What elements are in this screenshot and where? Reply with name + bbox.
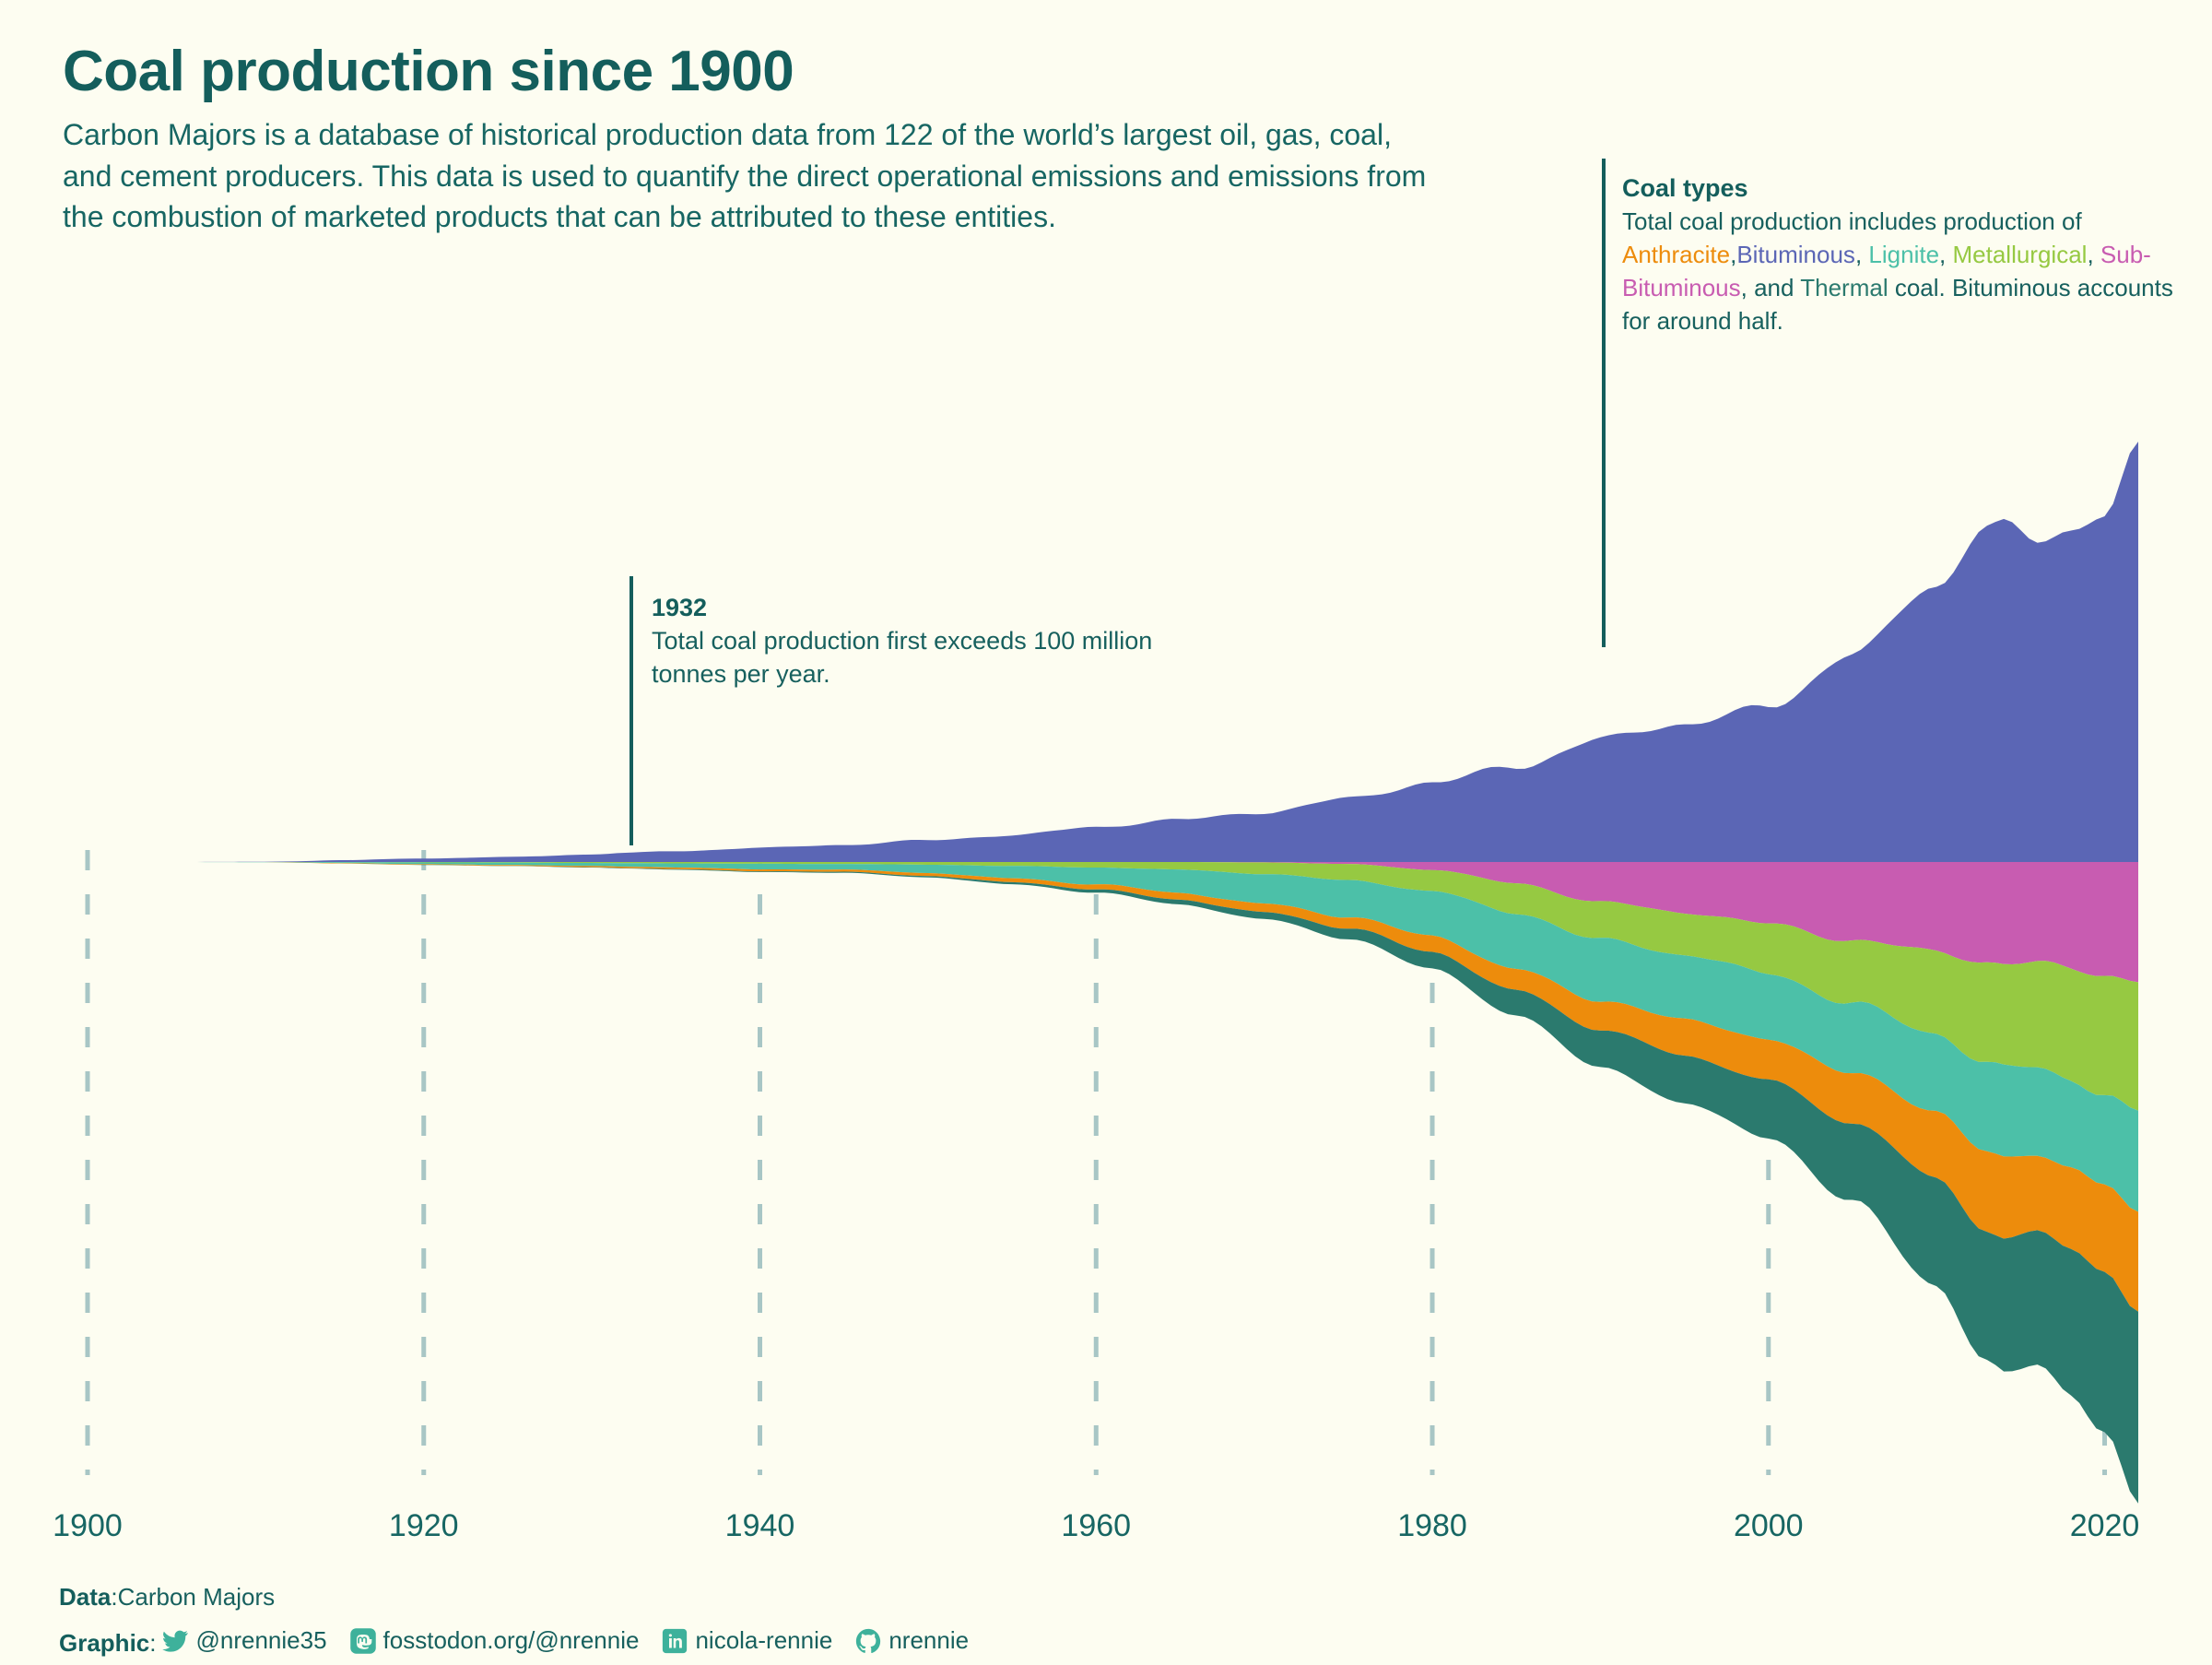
credit-handle: fosstodon.org/@nrennie (383, 1623, 640, 1659)
area-band-anthracite (88, 862, 2138, 1312)
footer-credit-linkedin[interactable]: nicola-rennie (661, 1623, 832, 1659)
x-tick-label-1940: 1940 (725, 1508, 795, 1544)
footer-data-label: Data (59, 1579, 111, 1615)
footer-credits: @nrennie35fosstodon.org/@nrennienicola-r… (156, 1623, 969, 1665)
sep: , (2087, 241, 2100, 268)
footer-credit-twitter[interactable]: @nrennie35 (161, 1623, 326, 1659)
annotation-rule (1602, 159, 1606, 647)
footer: Data: Carbon Majors Graphic: @nrennie35f… (59, 1579, 969, 1665)
coal-types-line3: and (1754, 274, 1800, 301)
coal-types-line2: production of (1943, 207, 2081, 235)
legend-word-lignite: Lignite (1868, 241, 1939, 268)
footer-credit-mastodon[interactable]: fosstodon.org/@nrennie (349, 1623, 640, 1659)
footer-data-line: Data: Carbon Majors (59, 1579, 969, 1615)
area-band-sub-bituminous (88, 862, 2138, 982)
sep: , (1939, 241, 1952, 268)
infographic-root: Coal production since 1900 Carbon Majors… (0, 0, 2212, 1659)
annotation-title: Coal types (1622, 173, 2175, 204)
x-tick-label-2020: 2020 (2070, 1508, 2140, 1544)
footer-data-sep: : (111, 1579, 117, 1615)
x-tick-label-1980: 1980 (1397, 1508, 1467, 1544)
footer-data-value: Carbon Majors (118, 1579, 276, 1615)
area-band-metallurgical (88, 862, 2138, 1111)
footer-graphic-line: Graphic: @nrennie35fosstodon.org/@nrenni… (59, 1623, 969, 1665)
annotation-body: Coal types Total coal production include… (1622, 173, 2175, 337)
x-tick-label-1920: 1920 (389, 1508, 459, 1544)
legend-word-thermal: Thermal (1800, 274, 1888, 301)
linkedin-icon (661, 1627, 688, 1655)
credit-handle: nicola-rennie (695, 1623, 832, 1659)
sep: , (1855, 241, 1862, 268)
area-band-lignite (88, 862, 2138, 1212)
page-title: Coal production since 1900 (63, 42, 1482, 101)
x-tick-label-2000: 2000 (1734, 1508, 1804, 1544)
legend-word-anthracite: Anthracite (1622, 241, 1730, 268)
mastodon-icon (349, 1627, 377, 1655)
credit-handle: nrennie (888, 1623, 969, 1659)
gridlines (88, 850, 2105, 1475)
legend-word-metallurgical: Metallurgical (1952, 241, 2087, 268)
header: Coal production since 1900 Carbon Majors… (63, 42, 1482, 237)
legend-word-bituminous: Bituminous (1736, 241, 1855, 268)
annotation-body: 1932 Total coal production first exceeds… (652, 593, 1205, 691)
coal-types-line4: coal. Bituminous accounts (1888, 274, 2173, 301)
credit-handle: @nrennie35 (195, 1623, 326, 1659)
annotation-text: Total coal production includes productio… (1622, 206, 2175, 338)
annotation-rule (629, 576, 633, 845)
coal-types-line5: for around half. (1622, 307, 1783, 335)
annotation-title: 1932 (652, 593, 1205, 623)
area-band-thermal (88, 862, 2138, 1504)
coal-types-line1: Total coal production includes (1622, 207, 1936, 235)
sep: , (1741, 274, 1747, 301)
twitter-icon (161, 1627, 189, 1655)
annotation-text: Total coal production first exceeds 100 … (652, 625, 1205, 691)
github-icon (854, 1627, 882, 1655)
footer-graphic-sep: : (149, 1625, 156, 1661)
x-tick-label-1900: 1900 (53, 1508, 123, 1544)
footer-graphic-label: Graphic (59, 1625, 149, 1661)
x-tick-label-1960: 1960 (1061, 1508, 1131, 1544)
page-subtitle: Carbon Majors is a database of historica… (63, 114, 1427, 236)
footer-credit-github[interactable]: nrennie (854, 1623, 969, 1659)
